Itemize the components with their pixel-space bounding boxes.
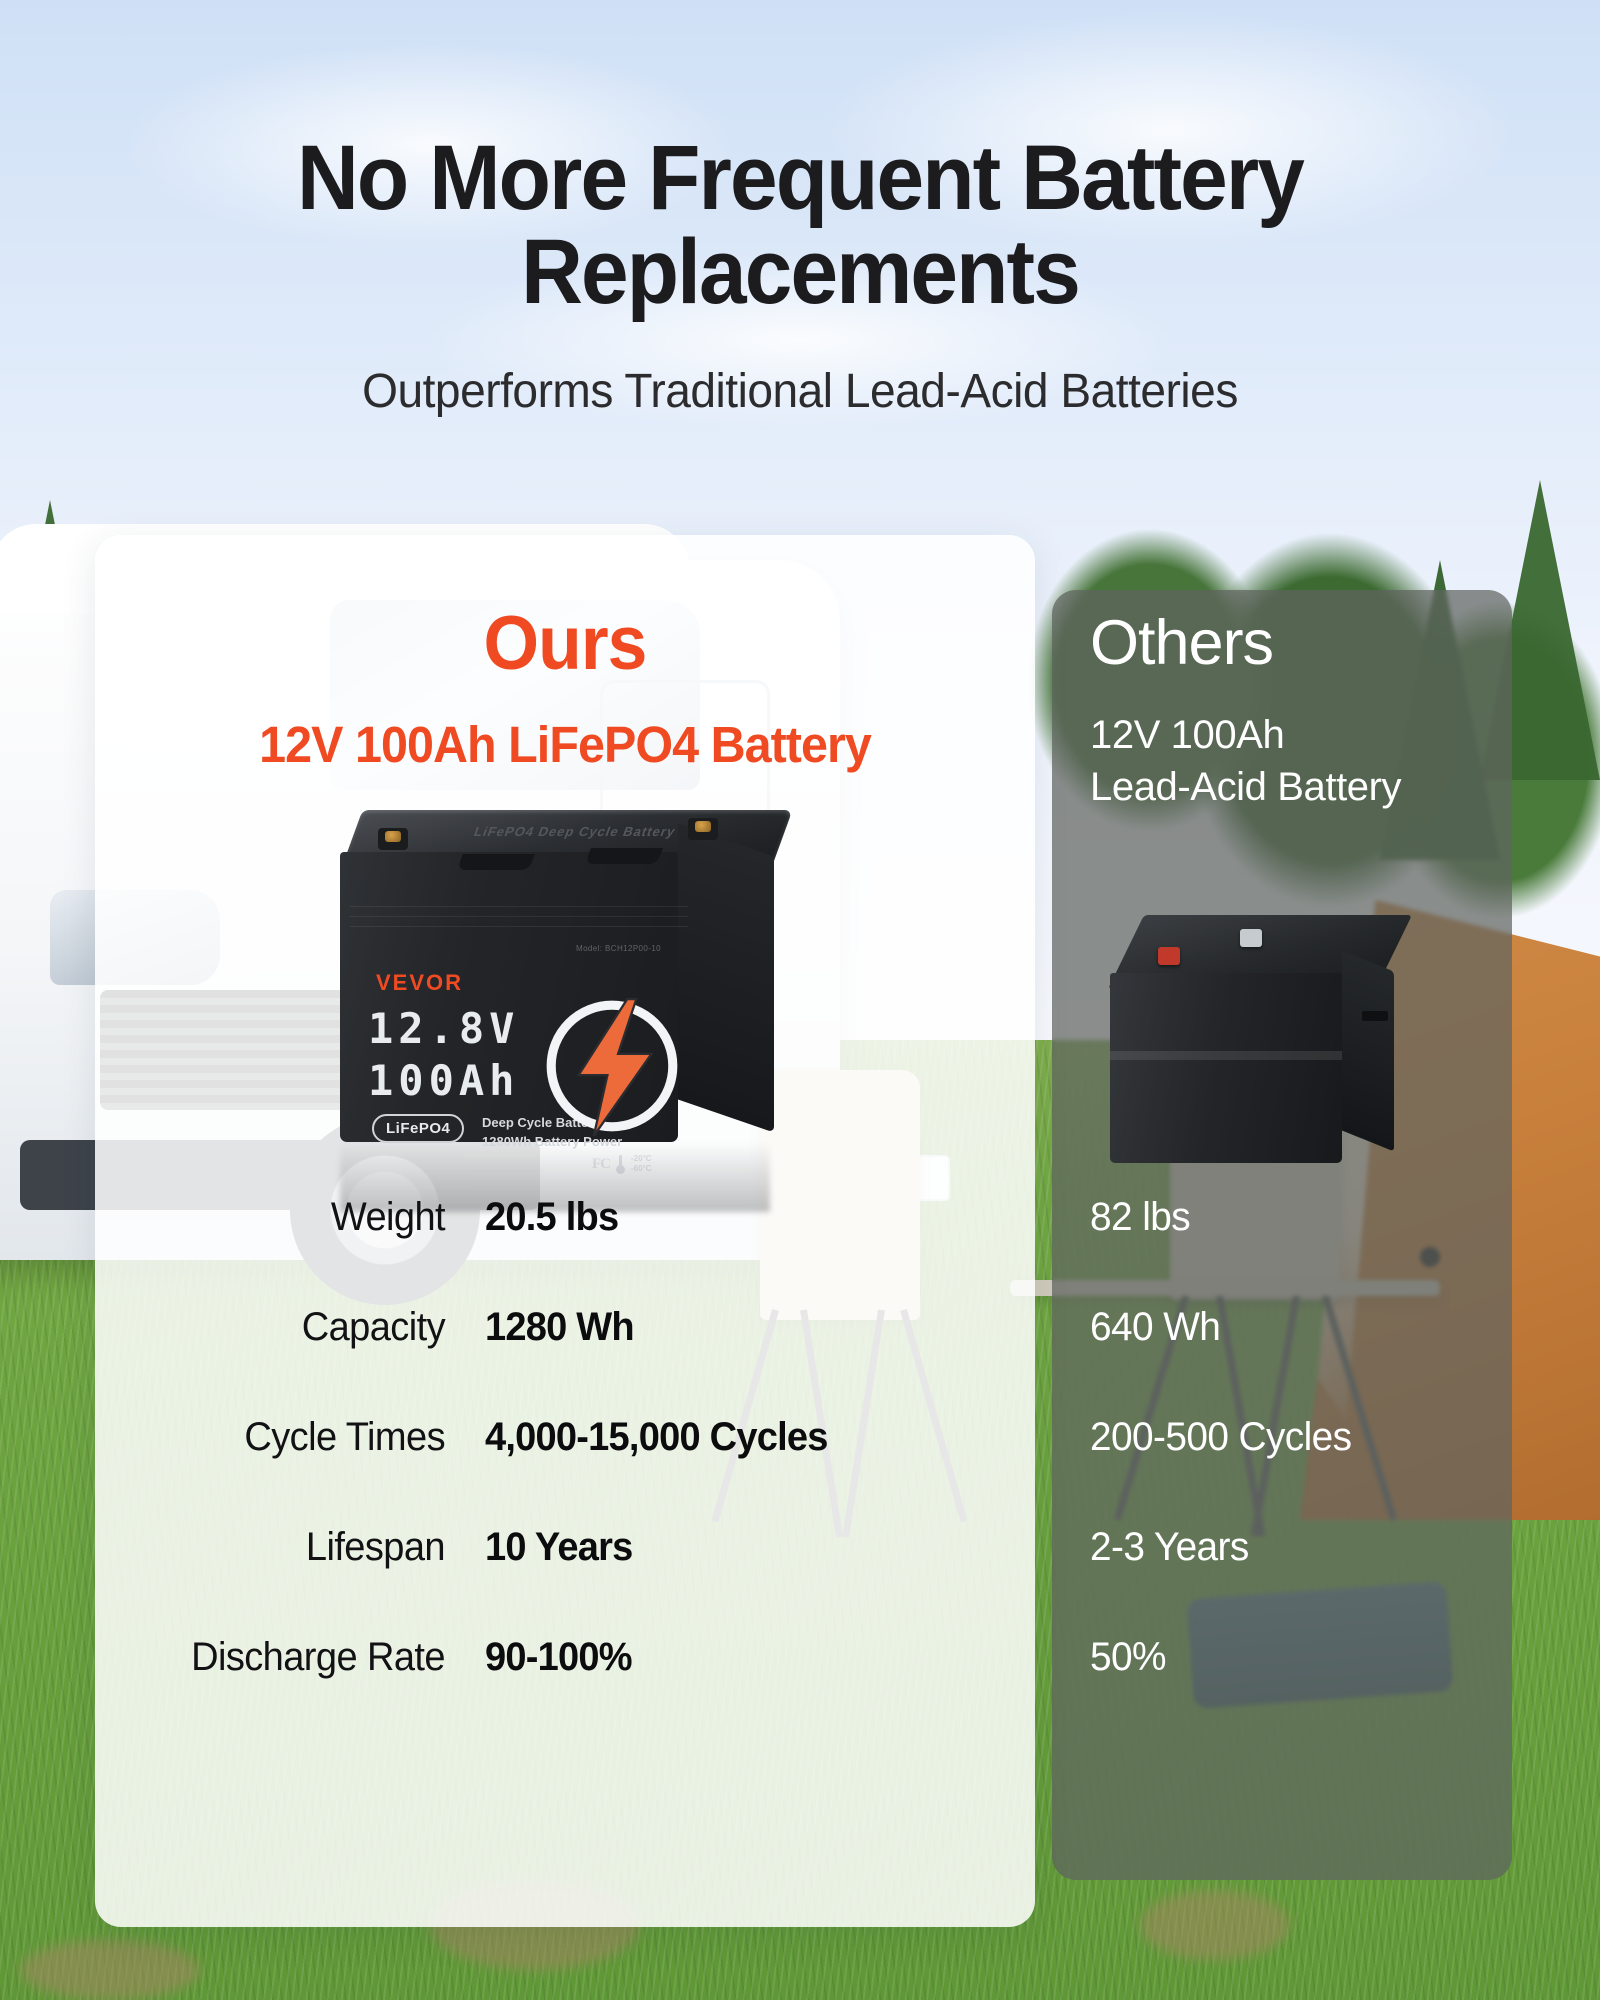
- positive-terminal: [1158, 947, 1180, 965]
- ours-value-cycle-times: 4,000-15,000 Cycles: [485, 1415, 979, 1460]
- battery-body: [1110, 973, 1342, 1163]
- others-product-name: 12V 100Ah Lead-Acid Battery: [1090, 709, 1520, 813]
- ours-value-capacity: 1280 Wh: [485, 1305, 979, 1350]
- others-row-discharge-rate: 50%: [1090, 1635, 1520, 1745]
- table-row: Lifespan 10 Years: [95, 1525, 1035, 1635]
- table-row: Capacity 1280 Wh: [95, 1305, 1035, 1415]
- others-spec-values: 82 lbs 640 Wh 200-500 Cycles 2-3 Years 5…: [1090, 1195, 1520, 1745]
- battery-top-label: LiFePO4 Deep Cycle Battery: [447, 824, 702, 839]
- battery-front-face: Model: BCH12P00-10 VEVOR 12.8V 100Ah LiF…: [340, 852, 678, 1142]
- vevor-logo: VEVOR: [376, 970, 463, 996]
- battery-capacity: 100Ah: [368, 1056, 519, 1105]
- ours-heading: Ours: [123, 600, 1007, 687]
- spec-label-discharge-rate: Discharge Rate: [132, 1635, 446, 1680]
- battery-notch: [585, 848, 663, 864]
- header: No More Frequent Battery Replacements Ou…: [0, 0, 1600, 419]
- ours-value-weight: 20.5 lbs: [485, 1195, 979, 1240]
- page-title-line1: No More Frequent Battery: [56, 132, 1544, 226]
- dirt-patch: [1140, 1890, 1290, 1960]
- ours-spec-table: Weight 20.5 lbs Capacity 1280 Wh Cycle T…: [95, 1195, 1035, 1745]
- lifepo4-battery-image: LiFePO4 Deep Cycle Battery Model: BCH12P…: [330, 810, 800, 1150]
- spec-label-lifespan: Lifespan: [132, 1525, 446, 1570]
- spec-label-cycle-times: Cycle Times: [132, 1415, 446, 1460]
- ours-value-discharge-rate: 90-100%: [485, 1635, 979, 1680]
- dirt-patch: [20, 1940, 200, 2000]
- lead-acid-battery-image: [1110, 915, 1400, 1165]
- others-header: Others 12V 100Ah Lead-Acid Battery: [1090, 612, 1520, 813]
- negative-terminal: [688, 818, 718, 840]
- spec-label-capacity: Capacity: [132, 1305, 446, 1350]
- others-row-cycle-times: 200-500 Cycles: [1090, 1415, 1520, 1525]
- table-row: Cycle Times 4,000-15,000 Cycles: [95, 1415, 1035, 1525]
- page-title: No More Frequent Battery Replacements: [56, 132, 1544, 320]
- battery-voltage: 12.8V: [368, 1004, 519, 1053]
- others-value-capacity: 640 Wh: [1090, 1305, 1220, 1350]
- page-title-line2: Replacements: [56, 226, 1544, 320]
- table-row: Discharge Rate 90-100%: [95, 1635, 1035, 1745]
- others-value-cycle-times: 200-500 Cycles: [1090, 1415, 1351, 1460]
- others-row-weight: 82 lbs: [1090, 1195, 1520, 1305]
- others-heading: Others: [1090, 612, 1520, 675]
- battery-side: [1342, 950, 1394, 1151]
- battery-ribs: [350, 906, 688, 936]
- ours-product-name: 12V 100Ah LiFePO4 Battery: [119, 715, 1012, 774]
- others-row-capacity: 640 Wh: [1090, 1305, 1520, 1415]
- battery-model-code: Model: BCH12P00-10: [576, 944, 661, 953]
- page-subtitle: Outperforms Traditional Lead-Acid Batter…: [32, 364, 1568, 419]
- negative-terminal: [1240, 929, 1262, 947]
- positive-terminal: [378, 828, 408, 850]
- spec-label-weight: Weight: [132, 1195, 446, 1240]
- chemistry-badge: LiFePO4: [372, 1114, 464, 1143]
- ours-value-lifespan: 10 Years: [485, 1525, 979, 1570]
- lightning-bolt-icon: [536, 990, 688, 1142]
- battery-lip: [1110, 1051, 1342, 1060]
- battery-side-face: [678, 823, 774, 1132]
- others-row-lifespan: 2-3 Years: [1090, 1525, 1520, 1635]
- others-value-lifespan: 2-3 Years: [1090, 1525, 1249, 1570]
- ours-card: Ours 12V 100Ah LiFePO4 Battery LiFePO4 D…: [95, 535, 1035, 1927]
- others-value-discharge-rate: 50%: [1090, 1635, 1166, 1680]
- battery-notch: [457, 854, 535, 870]
- battery-handle: [1362, 1011, 1388, 1021]
- table-row: Weight 20.5 lbs: [95, 1195, 1035, 1305]
- others-value-weight: 82 lbs: [1090, 1195, 1190, 1240]
